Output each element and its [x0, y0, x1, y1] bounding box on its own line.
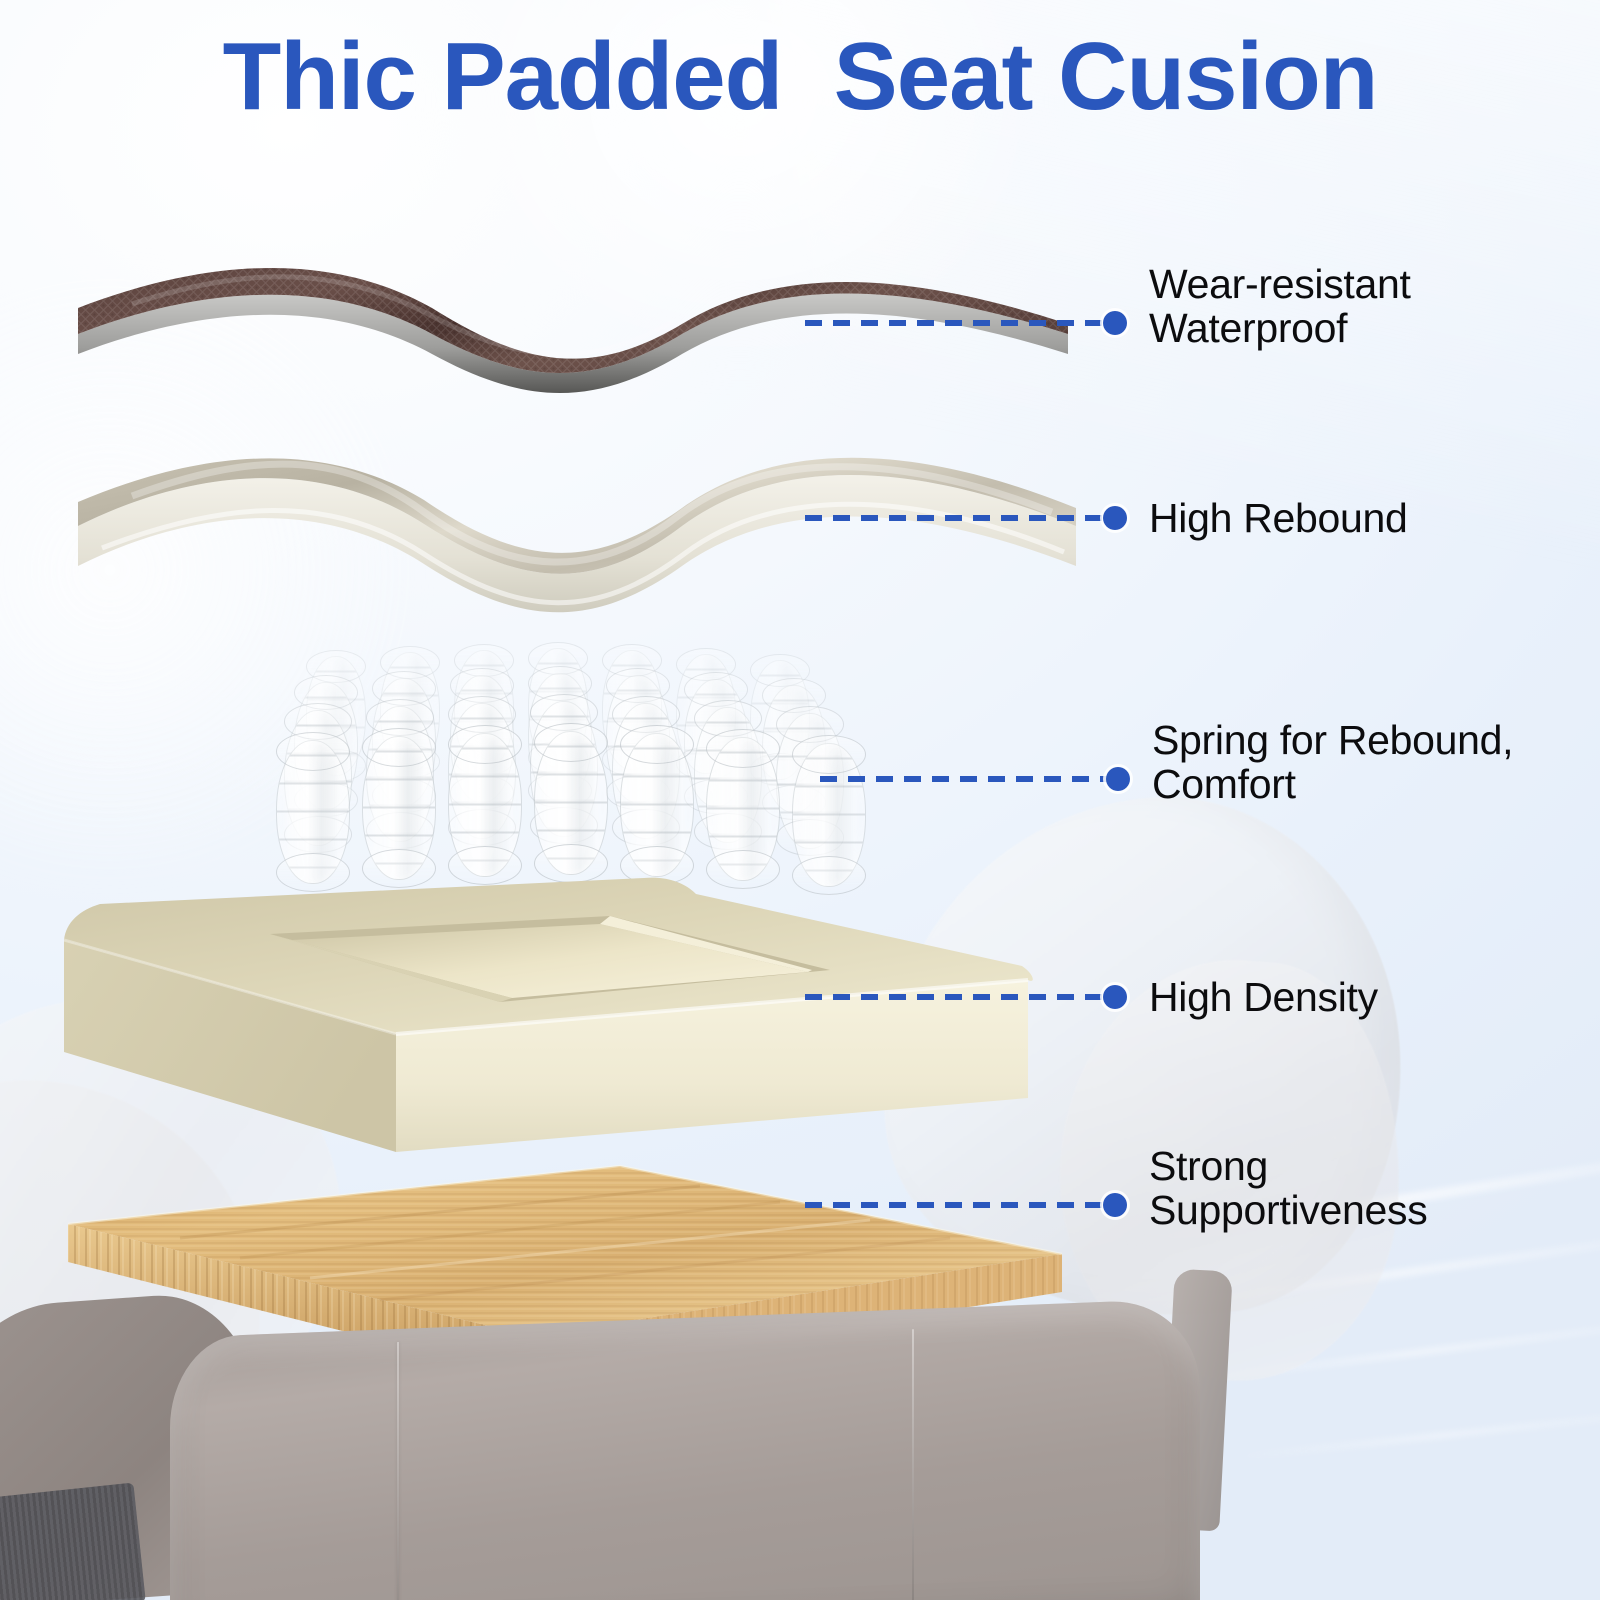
callout-label: High Rebound: [1149, 496, 1408, 540]
callout-spring-for-rebound-comfort[interactable]: Spring for Rebound, Comfort: [820, 752, 1513, 807]
callout-high-rebound[interactable]: High Rebound: [805, 496, 1408, 540]
callout-dashed-line: [805, 515, 1105, 521]
chair-mesh-panel: [0, 1482, 146, 1600]
callout-dot-icon: [1103, 985, 1127, 1009]
callout-dashed-line: [805, 1202, 1105, 1208]
callout-high-density[interactable]: High Density: [805, 975, 1378, 1019]
callout-wear-resistant-waterproof[interactable]: Wear-resistant Waterproof: [805, 296, 1411, 351]
callout-dot-icon: [1103, 311, 1127, 335]
layer-pocket-spring-unit: [288, 648, 858, 878]
callout-label: High Density: [1149, 975, 1378, 1019]
callout-label: Strong Supportiveness: [1149, 1144, 1427, 1233]
infographic-canvas: Thic Padded Seat Cusion: [0, 0, 1600, 1600]
callout-dot-icon: [1106, 767, 1130, 791]
page-title: Thic Padded Seat Cusion: [0, 24, 1600, 130]
callout-label: Spring for Rebound, Comfort: [1152, 718, 1513, 807]
callout-label: Wear-resistant Waterproof: [1149, 262, 1411, 351]
callout-dot-icon: [1103, 1193, 1127, 1217]
callout-dot-icon: [1103, 506, 1127, 530]
callout-dashed-line: [820, 776, 1108, 782]
chair-seat-cushion: [170, 1298, 1200, 1600]
callout-dashed-line: [805, 320, 1105, 326]
callout-dashed-line: [805, 994, 1105, 1000]
callout-strong-supportiveness[interactable]: Strong Supportiveness: [805, 1178, 1427, 1233]
